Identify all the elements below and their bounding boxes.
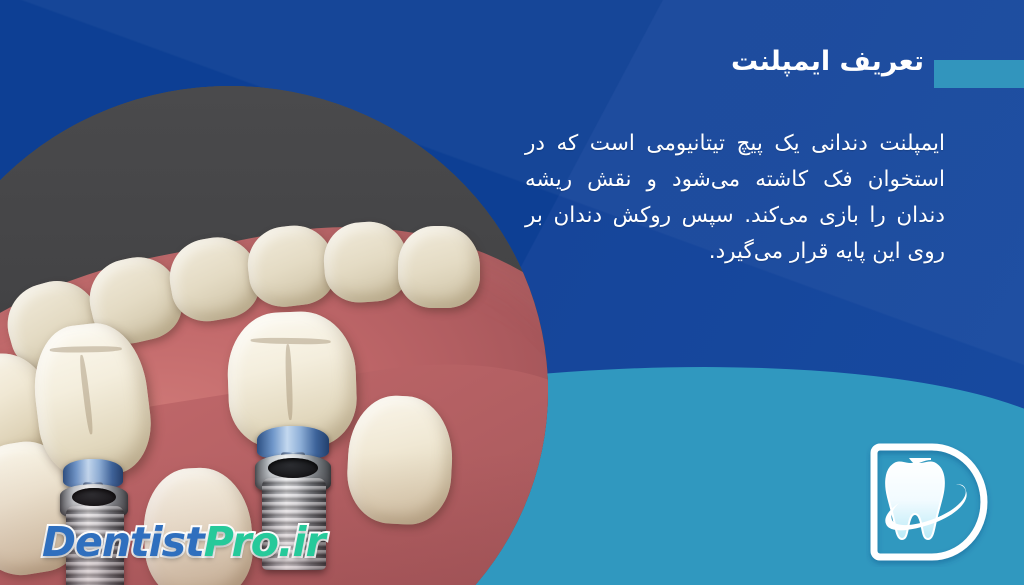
dentistpro-logo[interactable] bbox=[866, 437, 996, 567]
wordmark-dentist: Dentist bbox=[42, 518, 204, 566]
page-title: تعریف ایمپلنت bbox=[731, 46, 924, 78]
implant-illustration bbox=[0, 86, 548, 585]
body-paragraph: ایمپلنت دندانی یک پیچ تیتانیومی است که د… bbox=[525, 126, 945, 270]
crown-fissure bbox=[251, 337, 331, 344]
crown-fissure bbox=[285, 344, 294, 420]
body-paragraph-text: ایمپلنت دندانی یک پیچ تیتانیومی است که د… bbox=[525, 126, 945, 270]
molar-back-6 bbox=[398, 226, 480, 308]
wordmark-proir: Pro.ir bbox=[204, 518, 325, 566]
title-accent-bar bbox=[934, 60, 1024, 88]
infographic-canvas: تعریف ایمپلنت ایمپلنت دندانی یک پیچ تیتا… bbox=[0, 0, 1024, 585]
crown-fissure bbox=[50, 346, 122, 353]
illustration-disc bbox=[0, 86, 548, 585]
crown-fissure bbox=[78, 355, 94, 435]
site-wordmark[interactable]: DentistPro.ir bbox=[42, 522, 325, 563]
